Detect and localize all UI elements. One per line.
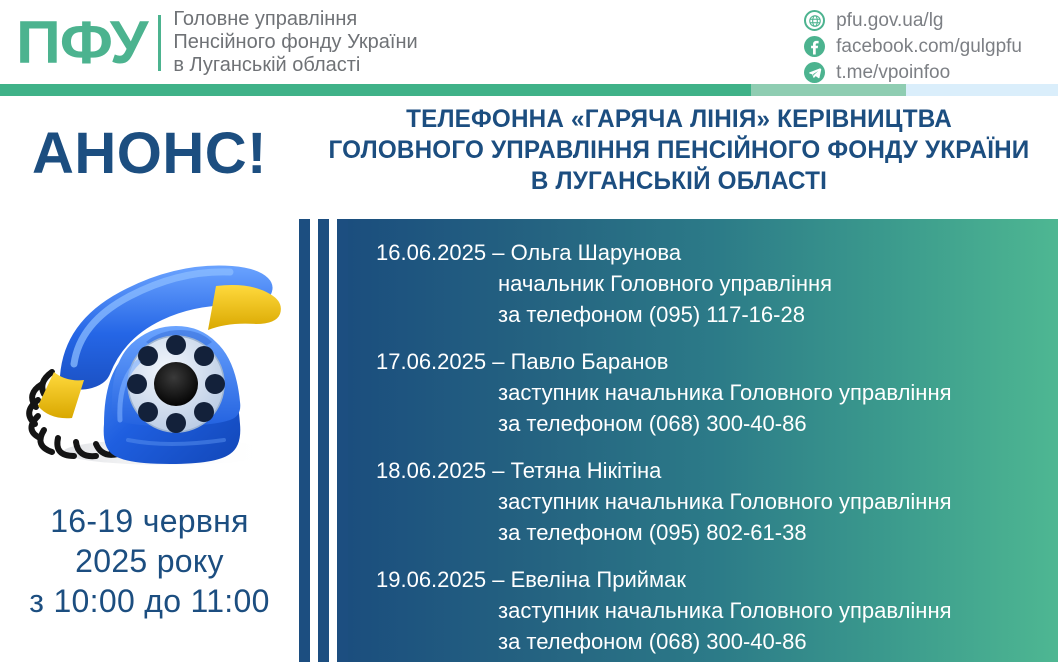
accent-bar-3 — [337, 219, 348, 662]
social-link-facebook-label: facebook.com/gulgpfu — [836, 36, 1022, 58]
logo-line-2: Пенсійного фонду України — [173, 31, 417, 54]
social-links: pfu.gov.ua/lg facebook.com/gulgpfu t.me/… — [804, 9, 1022, 84]
telegram-icon — [804, 62, 825, 83]
social-link-website[interactable]: pfu.gov.ua/lg — [804, 9, 1022, 32]
event-time-line: з 10:00 до 11:00 — [0, 581, 299, 621]
page-title-line-1: ТЕЛЕФОННА «ГАРЯЧА ЛІНІЯ» КЕРІВНИЦТВА — [311, 104, 1046, 135]
page-title: ТЕЛЕФОННА «ГАРЯЧА ЛІНІЯ» КЕРІВНИЦТВА ГОЛ… — [300, 104, 1058, 197]
rotary-telephone-icon — [8, 224, 298, 474]
schedule-entry-phone: за телефоном (068) 300-40-86 — [376, 408, 1058, 439]
strip-segment-light-green — [751, 84, 906, 96]
logo-line-3: в Луганській області — [173, 54, 417, 77]
schedule-entry-date-name: 18.06.2025 – Тетяна Нікітіна — [376, 455, 1058, 486]
schedule-entry: 18.06.2025 – Тетяна Нікітіна заступник н… — [348, 455, 1058, 548]
accent-bar-1 — [299, 219, 310, 662]
organization-logo: ПФУ Головне управління Пенсійного фонду … — [16, 8, 418, 77]
header-color-strip — [0, 84, 1058, 96]
globe-icon — [804, 10, 825, 31]
schedule-entry-phone: за телефоном (095) 117-16-28 — [376, 299, 1058, 330]
schedule-entry-date-name: 19.06.2025 – Евеліна Приймак — [376, 564, 1058, 595]
social-link-telegram-label: t.me/vpoinfoo — [836, 62, 950, 84]
facebook-icon — [804, 36, 825, 57]
logo-text-lines: Головне управління Пенсійного фонду Укра… — [173, 8, 417, 77]
event-date-block: 16-19 червня 2025 року з 10:00 до 11:00 — [0, 501, 299, 621]
decorative-accent-bars — [299, 219, 348, 662]
schedule-entry-position: заступник начальника Головного управлінн… — [376, 595, 1058, 626]
social-link-website-label: pfu.gov.ua/lg — [836, 10, 943, 32]
page-header: ПФУ Головне управління Пенсійного фонду … — [0, 0, 1058, 95]
accent-bar-2 — [318, 219, 329, 662]
schedule-entry-position: заступник начальника Головного управлінн… — [376, 486, 1058, 517]
schedule-entry: 19.06.2025 – Евеліна Приймак заступник н… — [348, 564, 1058, 657]
page-title-line-2: ГОЛОВНОГО УПРАВЛІННЯ ПЕНСІЙНОГО ФОНДУ УК… — [311, 135, 1046, 166]
hotline-schedule-panel: 16.06.2025 – Ольга Шарунова начальник Го… — [348, 219, 1058, 662]
announcement-heading: АНОНС! — [0, 123, 299, 185]
strip-segment-light-blue — [906, 84, 1058, 96]
page-title-line-3: В ЛУГАНСЬКІЙ ОБЛАСТІ — [311, 166, 1046, 197]
schedule-entry: 17.06.2025 – Павло Баранов заступник нач… — [348, 346, 1058, 439]
social-link-telegram[interactable]: t.me/vpoinfoo — [804, 61, 1022, 84]
logo-line-1: Головне управління — [173, 8, 417, 31]
social-link-facebook[interactable]: facebook.com/gulgpfu — [804, 35, 1022, 58]
schedule-entry-phone: за телефоном (068) 300-40-86 — [376, 626, 1058, 657]
event-date-line-1: 16-19 червня — [0, 501, 299, 541]
left-column: АНОНС! — [0, 96, 299, 662]
strip-segment-green — [0, 84, 751, 96]
event-date-line-2: 2025 року — [0, 541, 299, 581]
schedule-entry-position: начальник Головного управління — [376, 268, 1058, 299]
logo-divider — [158, 15, 161, 71]
logo-mark-pfu: ПФУ — [16, 12, 147, 74]
schedule-entry-date-name: 17.06.2025 – Павло Баранов — [376, 346, 1058, 377]
schedule-entry-date-name: 16.06.2025 – Ольга Шарунова — [376, 237, 1058, 268]
schedule-entry: 16.06.2025 – Ольга Шарунова начальник Го… — [348, 237, 1058, 330]
schedule-entry-position: заступник начальника Головного управлінн… — [376, 377, 1058, 408]
schedule-entry-phone: за телефоном (095) 802-61-38 — [376, 517, 1058, 548]
